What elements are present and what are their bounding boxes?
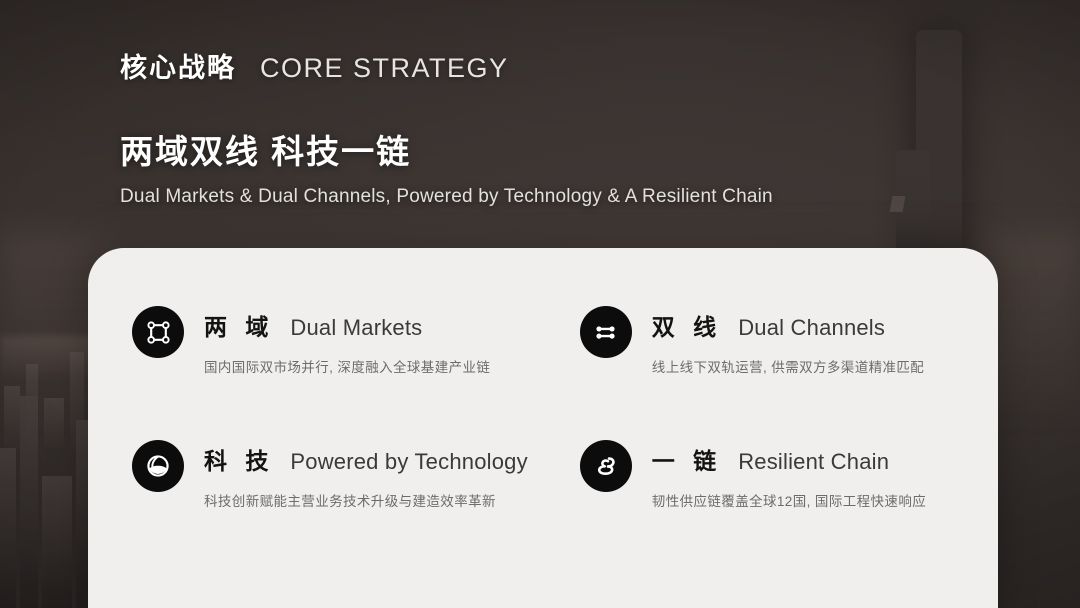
dual-track-icon bbox=[580, 306, 632, 358]
strategy-item-description: 韧性供应链覆盖全球12国, 国际工程快速响应 bbox=[652, 490, 926, 510]
strategy-item-description: 线上线下双轨运营, 供需双方多渠道精准匹配 bbox=[652, 356, 924, 376]
strategy-item-titles: 两 域 Dual Markets bbox=[204, 308, 490, 342]
strategy-item-body: 科 技 Powered by Technology 科技创新赋能主营业务技术升级… bbox=[204, 438, 528, 510]
page-subtitle: Dual Markets & Dual Channels, Powered by… bbox=[120, 186, 773, 208]
strategy-item-description: 国内国际双市场并行, 深度融入全球基建产业链 bbox=[204, 356, 490, 376]
eyebrow: 核心战略 CORE STRATEGY bbox=[120, 46, 773, 85]
strategy-item-titles: 科 技 Powered by Technology bbox=[204, 442, 528, 476]
strategy-item[interactable]: 科 技 Powered by Technology 科技创新赋能主营业务技术升级… bbox=[132, 438, 528, 510]
strategy-grid: 两 域 Dual Markets 国内国际双市场并行, 深度融入全球基建产业链 bbox=[132, 304, 954, 510]
strategy-item-title-en: Dual Markets bbox=[290, 315, 422, 341]
strategy-item-titles: 双 线 Dual Channels bbox=[652, 308, 924, 342]
eyebrow-cn-label: 核心战略 bbox=[120, 46, 236, 85]
strategy-item-title-en: Powered by Technology bbox=[290, 449, 527, 475]
strategy-item-title-cn: 科 技 bbox=[204, 442, 274, 476]
bounding-box-icon bbox=[132, 306, 184, 358]
strategy-item-title-en: Dual Channels bbox=[738, 315, 885, 341]
strategy-item[interactable]: 两 域 Dual Markets 国内国际双市场并行, 深度融入全球基建产业链 bbox=[132, 304, 528, 376]
strategy-card: 两 域 Dual Markets 国内国际双市场并行, 深度融入全球基建产业链 bbox=[88, 248, 998, 608]
strategy-item-title-cn: 一 链 bbox=[652, 442, 722, 476]
strategy-item[interactable]: 双 线 Dual Channels 线上线下双轨运营, 供需双方多渠道精准匹配 bbox=[580, 304, 954, 376]
strategy-item-description: 科技创新赋能主营业务技术升级与建造效率革新 bbox=[204, 490, 528, 510]
page-title: 两域双线 科技一链 bbox=[120, 125, 773, 173]
strategy-item-body: 双 线 Dual Channels 线上线下双轨运营, 供需双方多渠道精准匹配 bbox=[652, 304, 924, 376]
strategy-item-body: 一 链 Resilient Chain 韧性供应链覆盖全球12国, 国际工程快速… bbox=[652, 438, 926, 510]
strategy-item-body: 两 域 Dual Markets 国内国际双市场并行, 深度融入全球基建产业链 bbox=[204, 304, 490, 376]
strategy-item-title-cn: 双 线 bbox=[652, 308, 722, 342]
chain-link-icon bbox=[580, 440, 632, 492]
eyebrow-en-label: CORE STRATEGY bbox=[260, 53, 509, 84]
strategy-item-title-cn: 两 域 bbox=[204, 308, 274, 342]
strategy-item-titles: 一 链 Resilient Chain bbox=[652, 442, 926, 476]
strategy-item-title-en: Resilient Chain bbox=[738, 449, 889, 475]
page-header: 核心战略 CORE STRATEGY 两域双线 科技一链 Dual Market… bbox=[120, 46, 773, 208]
globe-tech-icon bbox=[132, 440, 184, 492]
strategy-item[interactable]: 一 链 Resilient Chain 韧性供应链覆盖全球12国, 国际工程快速… bbox=[580, 438, 954, 510]
